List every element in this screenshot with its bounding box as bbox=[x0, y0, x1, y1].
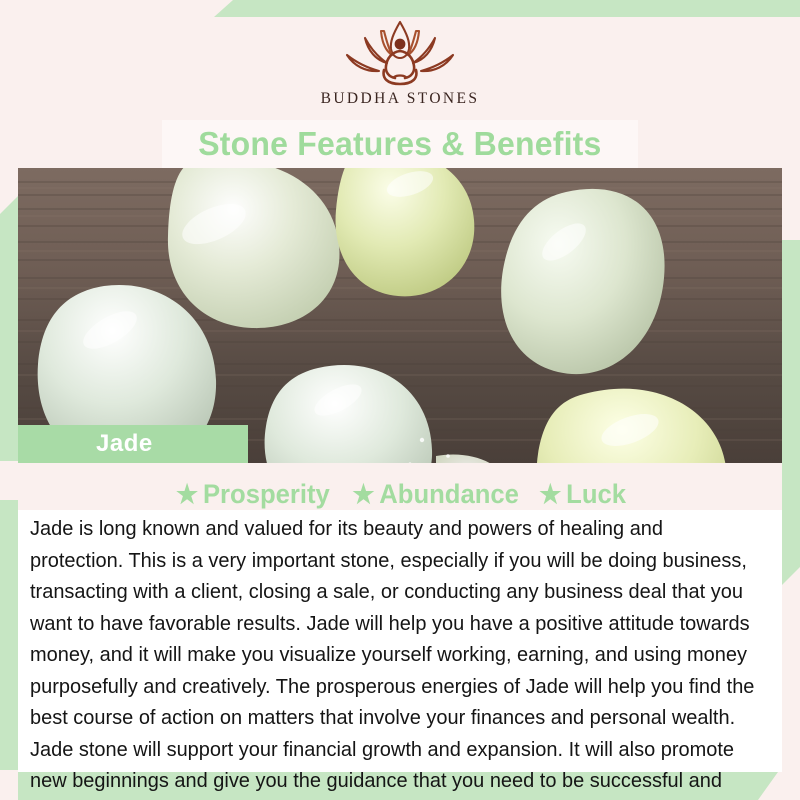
keyword-prosperity: ★ Prosperity bbox=[176, 479, 330, 510]
stone-description-text: Jade is long known and valued for its be… bbox=[30, 514, 761, 800]
decorative-band-top bbox=[214, 0, 800, 17]
stone-description: Jade is long known and valued for its be… bbox=[18, 510, 782, 772]
decorative-band-left-lower bbox=[0, 500, 18, 770]
star-icon: ★ bbox=[352, 481, 374, 507]
stone-info-poster: BUDDHA STONES Stone Features & Benefits bbox=[0, 0, 800, 800]
decorative-band-left bbox=[0, 196, 18, 461]
stone-photo bbox=[18, 168, 782, 463]
page-title-bar: Stone Features & Benefits bbox=[162, 120, 638, 168]
stone-keywords: ★ Prosperity ★ Abundance ★ Luck bbox=[0, 478, 800, 510]
stone-photo-artwork bbox=[18, 168, 782, 463]
star-icon: ★ bbox=[176, 481, 198, 507]
page-title: Stone Features & Benefits bbox=[198, 125, 601, 163]
decorative-band-right-upper bbox=[782, 240, 800, 425]
star-icon: ★ bbox=[539, 481, 561, 507]
brand-logo: BUDDHA STONES bbox=[0, 18, 800, 118]
keyword-label: Abundance bbox=[379, 479, 519, 510]
stone-name-tag: Jade bbox=[18, 425, 248, 463]
brand-name: BUDDHA STONES bbox=[321, 90, 480, 108]
stone-name: Jade bbox=[96, 430, 153, 458]
keyword-label: Prosperity bbox=[203, 479, 330, 510]
lotus-meditation-icon bbox=[334, 18, 466, 88]
keyword-label: Luck bbox=[566, 479, 626, 510]
keyword-abundance: ★ Abundance bbox=[352, 479, 519, 510]
keyword-luck: ★ Luck bbox=[539, 479, 626, 510]
